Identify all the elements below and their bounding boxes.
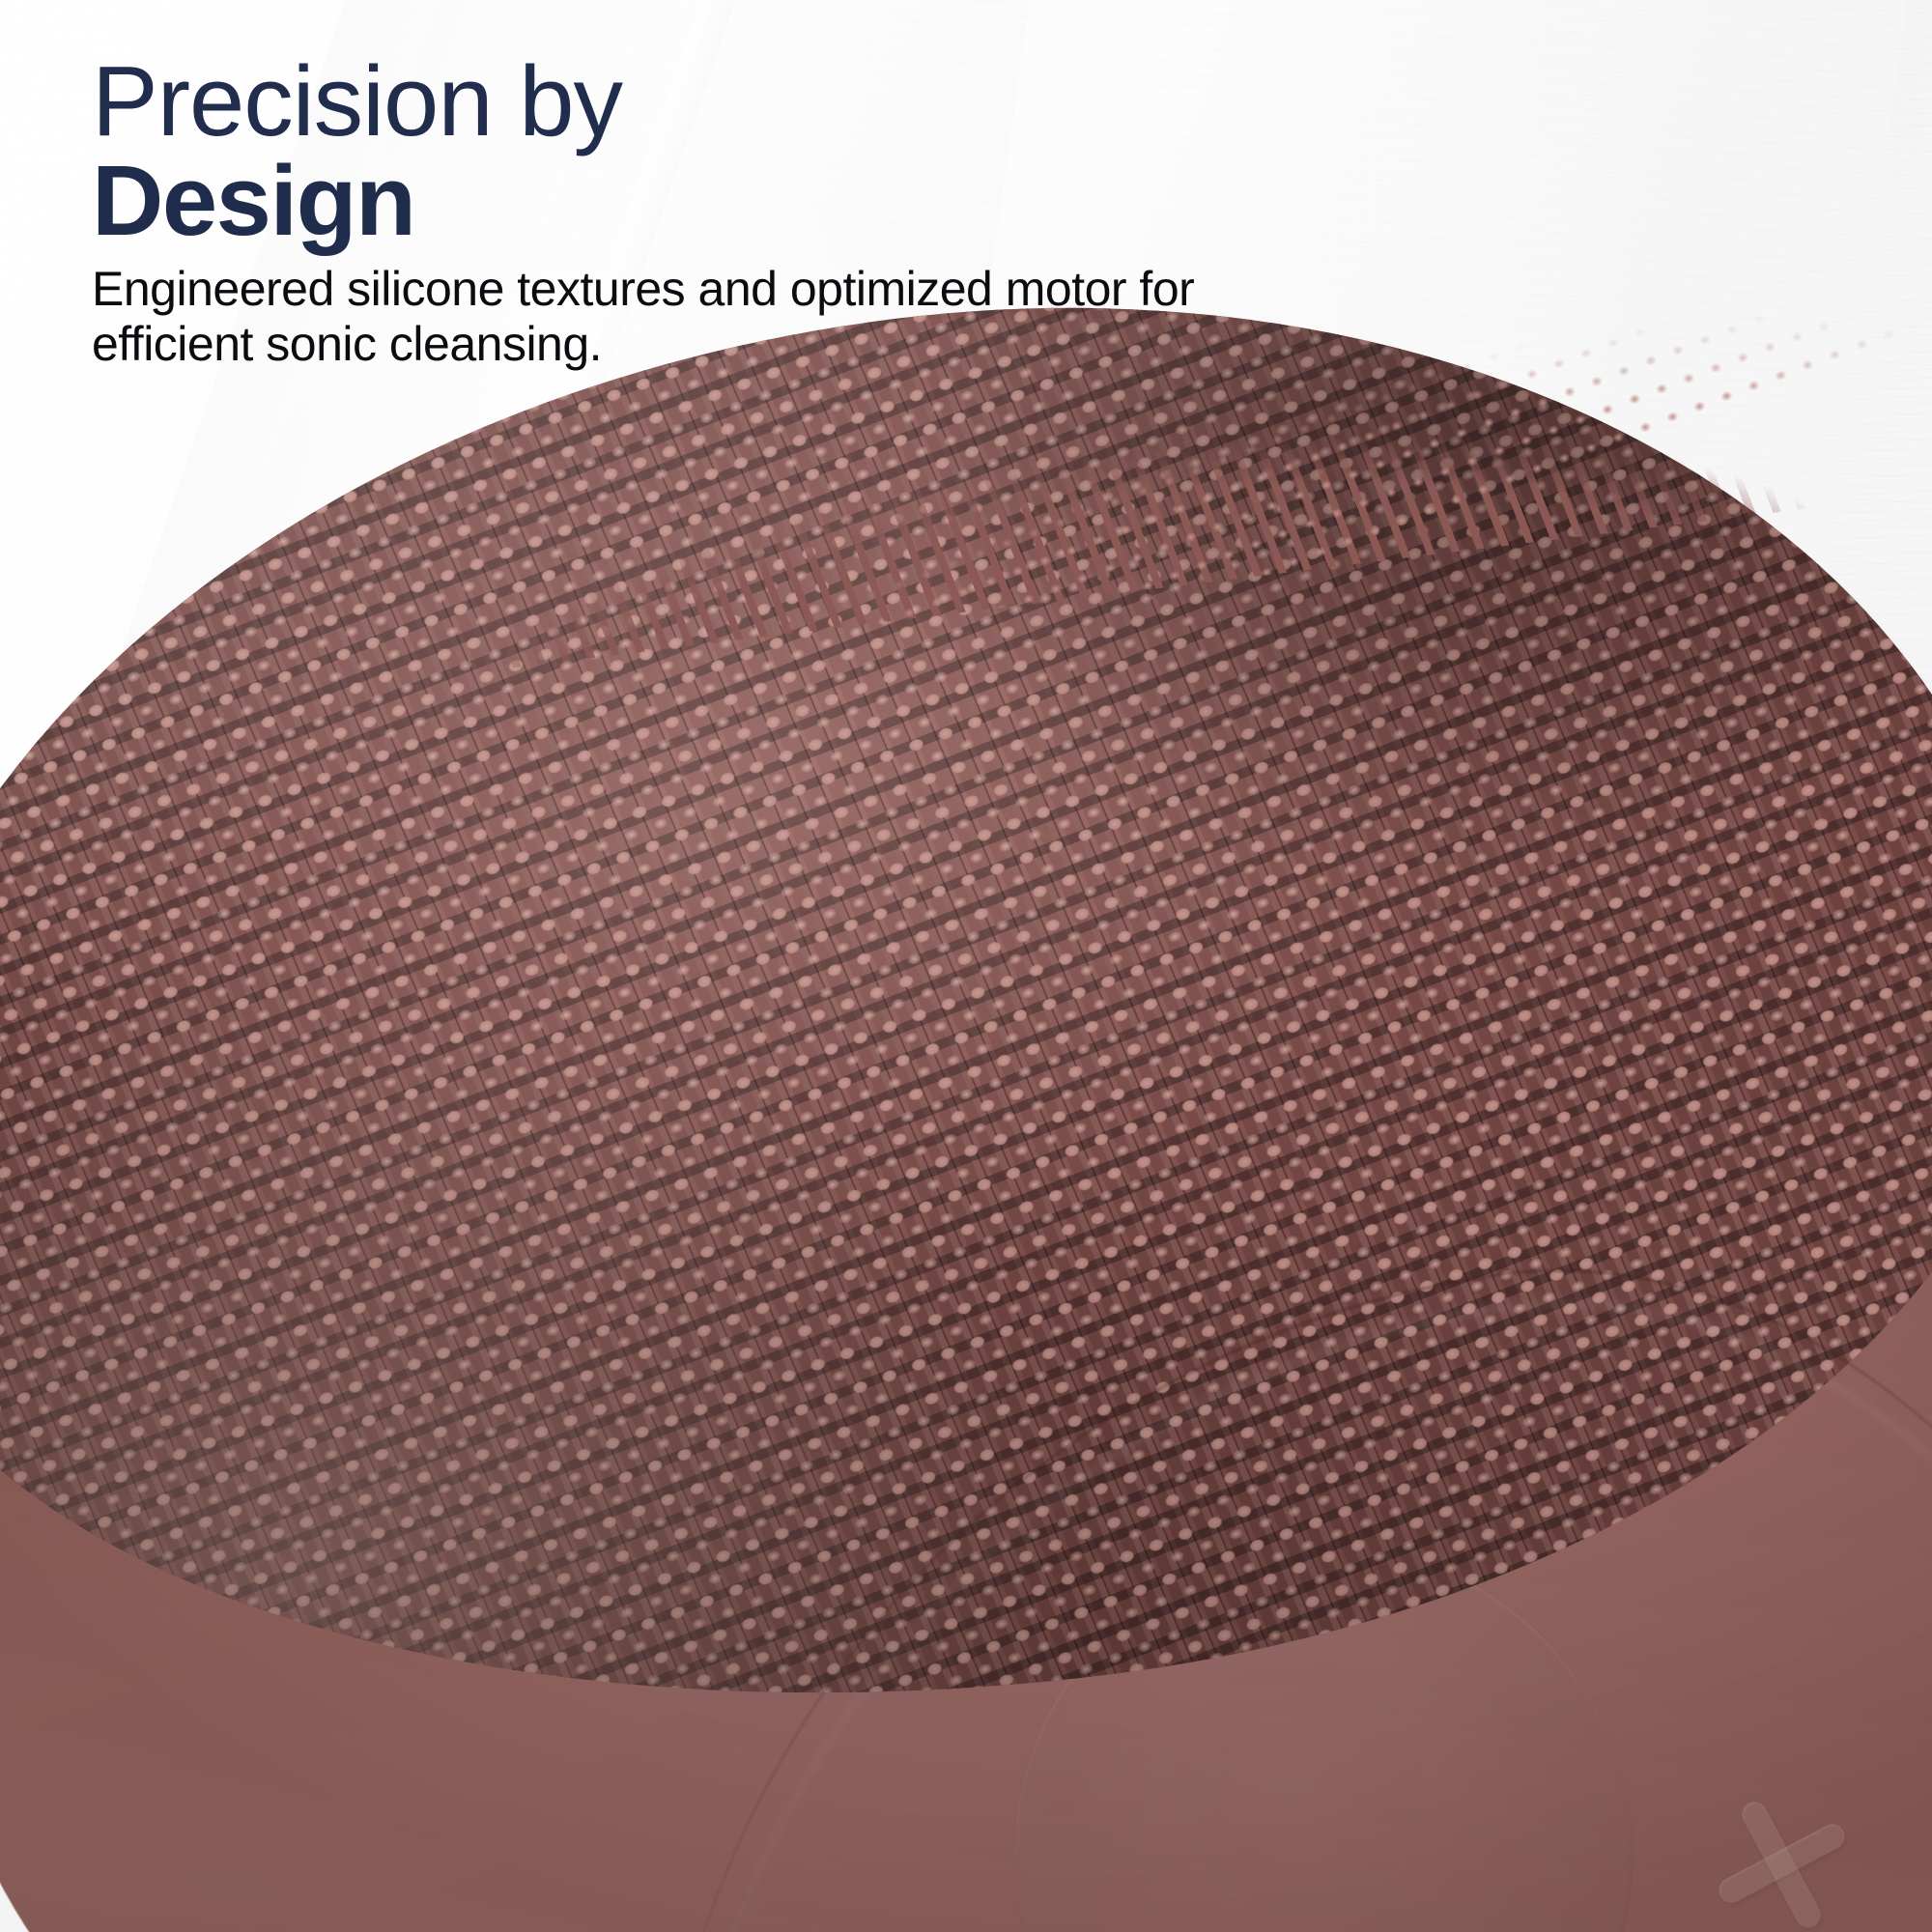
product-illustration <box>0 319 1932 1932</box>
product-feature-banner: Precision by Design Engineered silicone … <box>0 0 1932 1932</box>
page-title-line-1: Precision by <box>92 53 1444 151</box>
page-subtitle: Engineered silicone textures and optimiz… <box>92 262 1338 372</box>
headline-block: Precision by Design Engineered silicone … <box>92 53 1444 372</box>
page-title-line-2: Design <box>92 151 1444 250</box>
